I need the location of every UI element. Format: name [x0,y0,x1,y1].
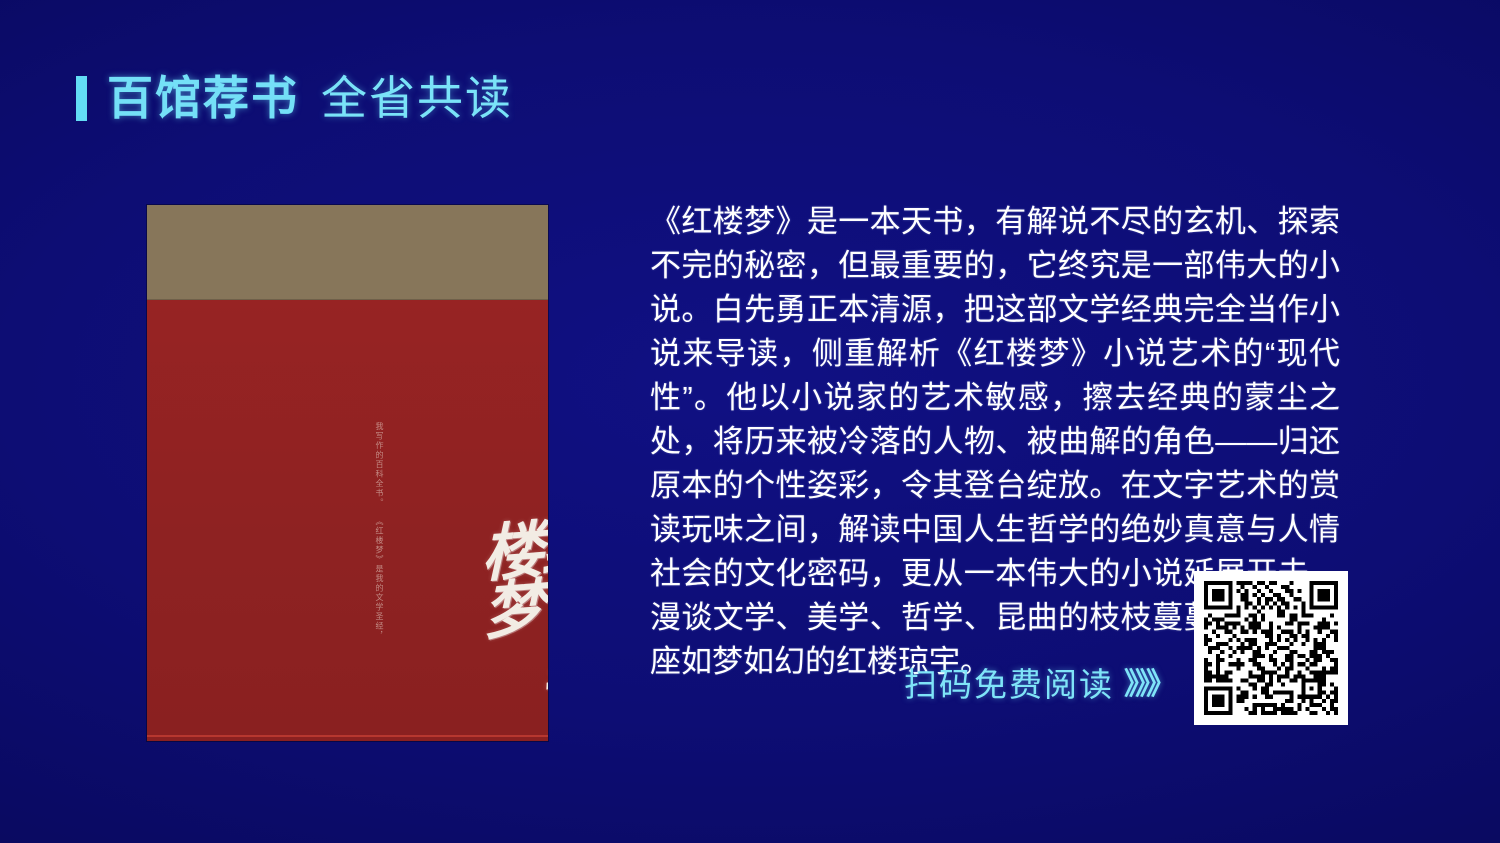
page-title-primary: 百馆荐书 [107,75,299,121]
qr-code-container[interactable] [1194,571,1348,725]
scan-to-read-text: 扫码免费阅读 [904,668,1114,701]
accent-bar-icon [76,76,87,121]
cover-top-band [147,205,548,300]
page-header: 百馆荐书 全省共读 [76,68,513,128]
cover-tagline: 《红楼梦》是我的文学圣经， 我写作的百科全书。 [375,530,384,640]
chevrons-right-icon: 》》》 [1124,670,1172,700]
cover-bottom-rule [147,735,548,737]
cta-row: 扫码免费阅读 》》》 [650,570,1348,725]
cover-tagline-line-1: 《红楼梦》是我的文学圣经， [375,517,384,641]
cover-title-calligraphy: 细说红楼梦 [474,513,548,741]
scan-to-read-label: 扫码免费阅读 》》》 [904,668,1172,725]
slide-canvas: 百馆荐书 全省共读 《红楼梦》是我的文学圣经， 我写作的百科全书。 细说红楼梦 … [0,0,1500,843]
page-title-secondary: 全省共读 [321,75,513,121]
qr-code-icon[interactable] [1204,581,1338,715]
cover-tagline-line-2: 我写作的百科全书。 [375,422,384,508]
book-cover-image: 《红楼梦》是我的文学圣经， 我写作的百科全书。 细说红楼梦 白先勇 【全二册】 [147,205,548,741]
